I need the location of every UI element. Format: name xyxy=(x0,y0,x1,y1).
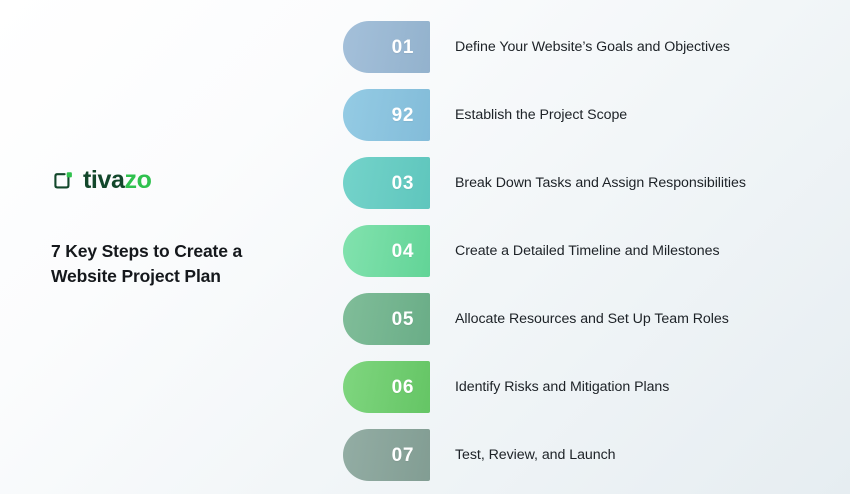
step-row: 92 Establish the Project Scope xyxy=(343,89,843,141)
step-number: 92 xyxy=(392,106,414,125)
logo-word-tiva: tiva xyxy=(83,166,124,194)
step-label: Test, Review, and Launch xyxy=(455,446,615,464)
step-badge-92: 92 xyxy=(343,89,430,141)
step-badge-06: 06 xyxy=(343,361,430,413)
brand-panel: tivazo 7 Key Steps to Create a Website P… xyxy=(51,168,316,289)
step-label: Identify Risks and Mitigation Plans xyxy=(455,378,669,396)
step-number: 07 xyxy=(392,446,414,465)
step-number: 05 xyxy=(392,310,414,329)
steps-list: 01 Define Your Website’s Goals and Objec… xyxy=(343,21,843,481)
tivazo-bracket-logo-icon xyxy=(51,169,74,192)
step-label: Establish the Project Scope xyxy=(455,106,627,124)
step-number: 03 xyxy=(392,174,414,193)
step-badge-07: 07 xyxy=(343,429,430,481)
step-badge-03: 03 xyxy=(343,157,430,209)
infographic-canvas: tivazo 7 Key Steps to Create a Website P… xyxy=(0,0,850,494)
step-number: 04 xyxy=(392,242,414,261)
step-row: 07 Test, Review, and Launch xyxy=(343,429,843,481)
page-title: 7 Key Steps to Create a Website Project … xyxy=(51,239,266,289)
step-label: Create a Detailed Timeline and Milestone… xyxy=(455,242,720,260)
step-badge-05: 05 xyxy=(343,293,430,345)
step-label: Define Your Website’s Goals and Objectiv… xyxy=(455,38,730,56)
step-number: 06 xyxy=(392,378,414,397)
step-label: Break Down Tasks and Assign Responsibili… xyxy=(455,174,746,192)
step-row: 01 Define Your Website’s Goals and Objec… xyxy=(343,21,843,73)
logo: tivazo xyxy=(51,168,316,193)
step-row: 03 Break Down Tasks and Assign Responsib… xyxy=(343,157,843,209)
step-badge-01: 01 xyxy=(343,21,430,73)
step-label: Allocate Resources and Set Up Team Roles xyxy=(455,310,729,328)
logo-word-zo: zo xyxy=(124,166,151,194)
step-row: 05 Allocate Resources and Set Up Team Ro… xyxy=(343,293,843,345)
step-number: 01 xyxy=(392,38,414,57)
step-row: 06 Identify Risks and Mitigation Plans xyxy=(343,361,843,413)
step-row: 04 Create a Detailed Timeline and Milest… xyxy=(343,225,843,277)
step-badge-04: 04 xyxy=(343,225,430,277)
logo-wordmark: tivazo xyxy=(83,168,151,193)
